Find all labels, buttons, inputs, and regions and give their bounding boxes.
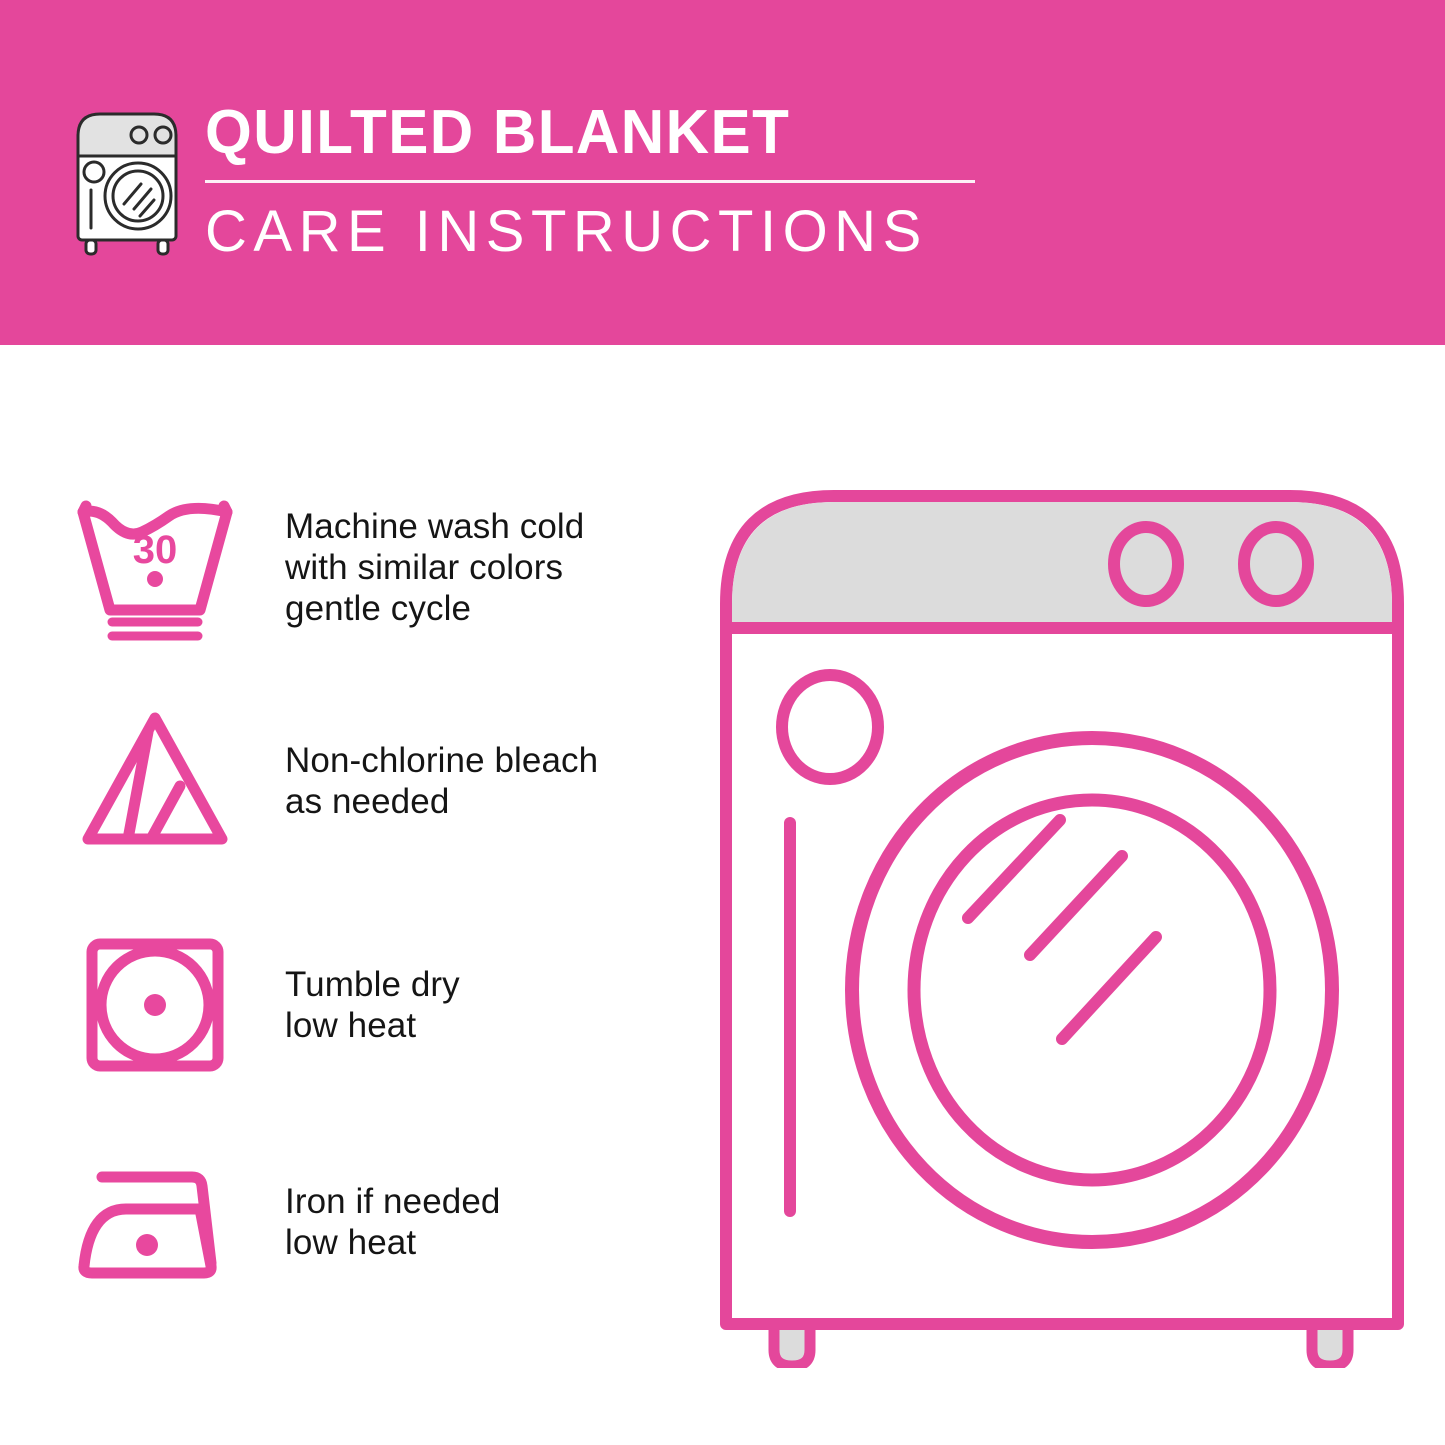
header-banner: QUILTED BLANKET CARE INSTRUCTIONS: [0, 0, 1445, 345]
care-item-iron: Iron if needed low heat: [62, 1147, 682, 1297]
tumble-dry-low-icon: [62, 930, 247, 1080]
knob-right: [1244, 527, 1308, 601]
care-item-label: Non-chlorine bleach as needed: [247, 740, 682, 822]
header-divider: [205, 180, 975, 183]
care-item-tumble-dry: Tumble dry low heat: [62, 927, 682, 1082]
header-text-block: QUILTED BLANKET CARE INSTRUCTIONS: [205, 98, 995, 264]
non-chlorine-bleach-triangle-icon: [62, 706, 247, 856]
care-item-label: Machine wash cold with similar colors ge…: [247, 506, 682, 629]
knob-left: [1114, 527, 1178, 601]
wash-tub-30-gentle-icon: 30: [62, 492, 247, 642]
page-subtitle: CARE INSTRUCTIONS: [205, 200, 995, 264]
washing-machine-icon: [62, 104, 192, 256]
care-item-label: Iron if needed low heat: [247, 1181, 682, 1263]
care-item-label: Tumble dry low heat: [247, 964, 682, 1046]
care-item-bleach: Non-chlorine bleach as needed: [62, 703, 682, 858]
care-instructions-infographic: QUILTED BLANKET CARE INSTRUCTIONS 30: [0, 0, 1445, 1445]
wash-temperature-value: 30: [132, 528, 177, 572]
care-item-machine-wash: 30 Machine wash cold with similar colors…: [62, 487, 682, 647]
page-title: QUILTED BLANKET: [205, 98, 971, 168]
front-load-washing-machine-illustration: [712, 478, 1412, 1368]
iron-low-heat-icon: [62, 1147, 247, 1297]
